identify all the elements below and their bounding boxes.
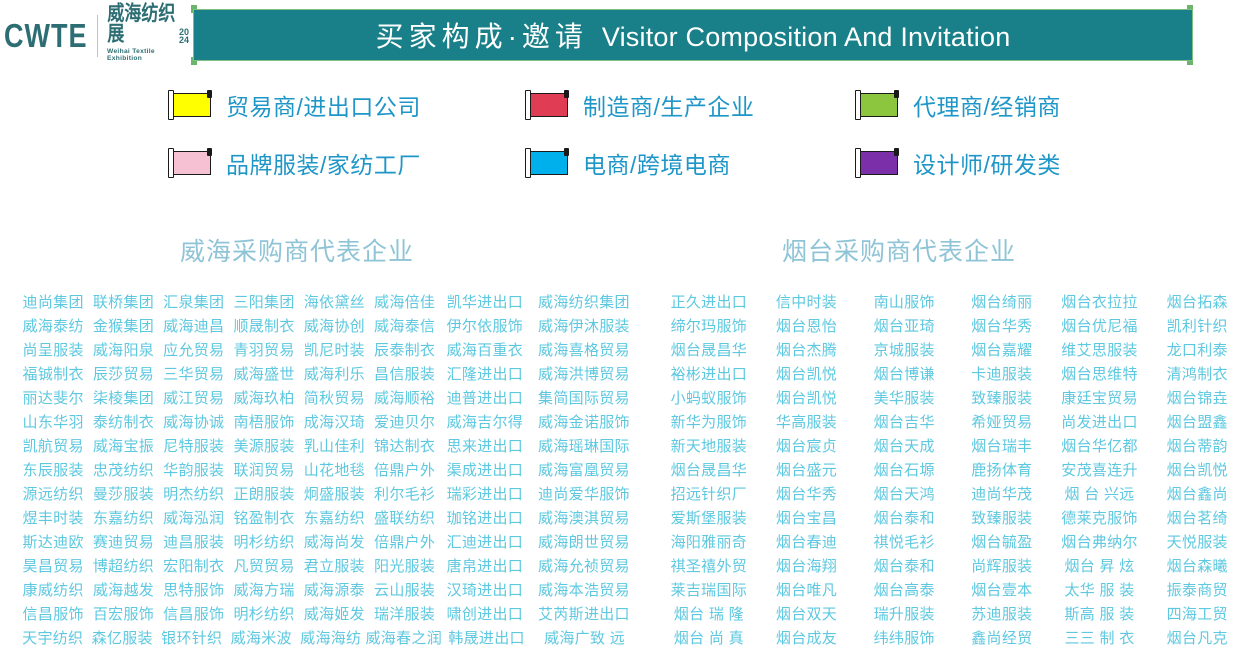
slide-page: CWTE 威海纺织展 20 24 Weihai Textile Exhibiti… [0,0,1247,660]
legend: 贸易商/进出口公司 制造商/生产企业 代理商/经销商 品牌服装/家纺工厂 电商/ [0,88,1247,198]
table-cell-company: 南山服饰 [855,291,953,312]
page-header: CWTE 威海纺织展 20 24 Weihai Textile Exhibiti… [0,0,1247,72]
table-cell-company: 烟台天鸿 [855,483,953,504]
table-cell-company: 烟台华秀 [953,315,1051,336]
table-cell-company: 烟台泰和 [855,555,953,576]
table-cell-company: 威海洪博贸易 [530,363,638,384]
table-cell-company: 凯尼时装 [299,339,369,360]
table-cell-company: 华高服装 [758,411,856,432]
table-cell-company: 威海协诚 [159,411,229,432]
table-row: 福铖制衣辰莎贸易三华贸易威海盛世威海利乐昌信服装汇隆进出口威海洪博贸易 [18,361,638,385]
table-cell-company: 汉琦进出口 [440,579,530,600]
table-cell-company: 致臻服装 [953,507,1051,528]
table-cell-company: 烟台绮丽 [953,291,1051,312]
logo-chinese-block: 威海纺织展 20 24 Weihai Textile Exhibition [107,10,189,62]
table-row: 新天地服装烟台宸贞烟台天成烟台瑞丰烟台华亿都烟台蒂韵 [660,433,1246,457]
legend-item-4: 电商/跨境电商 [525,146,731,180]
legend-item-label: 电商/跨境电商 [583,146,731,180]
table-cell-company: 凯利针织 [1148,315,1246,336]
table-cell-company: 联桥集团 [88,291,158,312]
table-cell-company: 威海伊沐服装 [530,315,638,336]
table-cell-company: 祺圣禧外贸 [660,555,758,576]
table-cell-company: 福铖制衣 [18,363,88,384]
section-heading-weihai: 威海采购商代表企业 [180,232,414,268]
table-cell-company: 三华贸易 [159,363,229,384]
table-row: 信昌服饰百宏服饰信昌服饰明杉纺织威海姬发瑞洋服装啸创进出口艾芮斯进出口 [18,601,638,625]
table-cell-company: 君立服装 [299,555,369,576]
table-row: 海阳雅丽奇烟台春迪祺悦毛衫烟台毓盈烟台弗纳尔天悦服装 [660,529,1246,553]
logo-english-subtitle: Weihai Textile Exhibition [107,48,190,62]
table-cell-company: 成海汉琦 [299,411,369,432]
table-cell-company: 锦达制衣 [369,435,439,456]
table-cell-company: 汇泉集团 [159,291,229,312]
table-cell-company: 烟台 尚 真 [660,627,758,648]
legend-item-label: 设计师/研发类 [913,146,1061,180]
table-cell-company: 铭盈制衣 [229,507,299,528]
logo-year-bottom: 24 [179,36,189,44]
table-cell-company: 威海米波 [227,627,297,648]
flag-icon [168,90,212,120]
table-cell-company: 烟台森曦 [1148,555,1246,576]
table-cell-company: 烟台华秀 [758,483,856,504]
legend-item-5: 设计师/研发类 [855,146,1061,180]
table-cell-company: 卡迪服装 [953,363,1051,384]
page-title-chinese: 买家构成·邀请 [376,15,588,55]
table-cell-company: 威海玖柏 [229,387,299,408]
table-cell-company: 威海泓润 [159,507,229,528]
table-cell-company: 明杉纺织 [229,603,299,624]
table-cell-company: 清鸿制衣 [1148,363,1246,384]
table-cell-company: 威海倍佳 [369,291,439,312]
table-cell-company: 迪尚集团 [18,291,88,312]
table-cell-company: 威海迪昌 [159,315,229,336]
table-row: 烟台 尚 真烟台成友纬纬服饰鑫尚经贸三三 制 衣烟台凡克 [660,625,1246,649]
table-cell-company: 云山服装 [369,579,439,600]
table-cell-company: 简秋贸易 [299,387,369,408]
table-cell-company: 威海富凰贸易 [530,459,638,480]
table-row: 裕彬进出口烟台凯悦烟台博谦卡迪服装烟台思维特清鸿制衣 [660,361,1246,385]
table-cell-company: 莱吉瑞国际 [660,579,758,600]
table-row: 烟台 瑞 隆烟台双天瑞升服装苏迪服装斯高 服 装四海工贸 [660,601,1246,625]
table-cell-company: 金猴集团 [88,315,158,336]
table-cell-company: 威海朗世贸易 [530,531,638,552]
table-cell-company: 柒棱集团 [88,387,158,408]
table-cell-company: 烟台锦垚 [1148,387,1246,408]
table-cell-company: 鑫尚经贸 [953,627,1051,648]
flag-icon [855,90,899,120]
table-row: 凯航贸易威海宝振尼特服装美源服装乳山佳利锦达制衣思来进出口威海瑶琳国际 [18,433,638,457]
table-row: 威海泰纺金猴集团威海迪昌顺晟制衣威海协创威海泰信伊尔依服饰威海伊沐服装 [18,313,638,337]
table-cell-company: 烟台嘉耀 [953,339,1051,360]
table-cell-company: 艾芮斯进出口 [530,603,638,624]
table-row: 斯达迪欧赛迪贸易迪昌服装明杉纺织威海尚发倍鼎户外汇迪进出口威海朗世贸易 [18,529,638,553]
table-cell-company: 尚辉服装 [953,555,1051,576]
table-cell-company: 威海百重衣 [440,339,530,360]
table-cell-company: 凯华进出口 [440,291,530,312]
table-cell-company: 烟台毓盈 [953,531,1051,552]
table-cell-company: 烟台华亿都 [1051,435,1149,456]
table-cell-company: 辰泰制衣 [369,339,439,360]
table-cell-company: 煜丰时装 [18,507,88,528]
table-cell-company: 烟台石塬 [855,459,953,480]
table-cell-company: 京城服装 [855,339,953,360]
table-cell-company: 威海宝振 [88,435,158,456]
legend-item-3: 品牌服装/家纺工厂 [168,146,421,180]
table-cell-company: 迪昌服装 [159,531,229,552]
table-cell-company: 维艾思服装 [1051,339,1149,360]
table-cell-company: 烟 台 兴远 [1051,483,1149,504]
table-cell-company: 明杉纺织 [229,531,299,552]
table-cell-company: 威海春之润 [366,627,443,648]
table-row: 新华为服饰华高服装烟台吉华希娅贸易尚发进出口烟台盟鑫 [660,409,1246,433]
legend-item-1: 制造商/生产企业 [525,88,754,122]
table-cell-company: 盛联纺织 [369,507,439,528]
table-cell-company: 威海协创 [299,315,369,336]
logo-abbrev: CWTE [4,19,87,53]
table-row: 尚呈服装威海阳泉应允贸易青羽贸易凯尼时装辰泰制衣威海百重衣威海喜格贸易 [18,337,638,361]
table-cell-company: 泰纺制衣 [88,411,158,432]
table-cell-company: 新华为服饰 [660,411,758,432]
table-cell-company: 瑞升服装 [855,603,953,624]
table-cell-company: 昊昌贸易 [18,555,88,576]
table-cell-company: 威海尚发 [299,531,369,552]
table-cell-company: 威海本浩贸易 [530,579,638,600]
table-cell-company: 烟台茗绮 [1148,507,1246,528]
table-cell-company: 汇迪进出口 [440,531,530,552]
flag-icon [525,90,569,120]
table-cell-company: 三三 制 衣 [1051,627,1149,648]
table-cell-company: 珈铭进出口 [440,507,530,528]
table-cell-company: 海依黛丝 [299,291,369,312]
table-cell-company: 威海吉尔得 [440,411,530,432]
table-cell-company: 利尔毛衫 [369,483,439,504]
table-cell-company: 烟台高泰 [855,579,953,600]
table-cell-company: 威海盛世 [229,363,299,384]
table-cell-company: 汇隆进出口 [440,363,530,384]
page-title-bar: 买家构成·邀请 Visitor Composition And Invitati… [193,9,1193,61]
table-cell-company: 烟台海翔 [758,555,856,576]
table-row: 迪尚集团联桥集团汇泉集团三阳集团海依黛丝威海倍佳凯华进出口威海纺织集团 [18,289,638,313]
table-cell-company: 银环针织 [157,627,227,648]
table-row: 缔尔玛服饰烟台恩怡烟台亚琦烟台华秀烟台优尼福凯利针织 [660,313,1246,337]
table-cell-company: 天宇纺织 [18,627,88,648]
table-cell-company: 烟台亚琦 [855,315,953,336]
table-cell-company: 烟台凯悦 [758,363,856,384]
flag-icon [168,148,212,178]
table-cell-company: 威海方瑞 [229,579,299,600]
table-cell-company: 鹿扬体育 [953,459,1051,480]
table-cell-company: 信中时装 [758,291,856,312]
legend-item-2: 代理商/经销商 [855,88,1061,122]
table-cell-company: 百宏服饰 [88,603,158,624]
table-row: 丽达斐尔柒棱集团威江贸易威海玖柏简秋贸易威海顺裕迪普进出口集简国际贸易 [18,385,638,409]
table-cell-company: 威海金诺服饰 [530,411,638,432]
table-cell-company: 烟台双天 [758,603,856,624]
table-cell-company: 斯高 服 装 [1051,603,1149,624]
table-cell-company: 天悦服装 [1148,531,1246,552]
table-cell-company: 烟台吉华 [855,411,953,432]
table-cell-company: 威海澳淇贸易 [530,507,638,528]
logo-chinese-name: 威海纺织展 [107,3,177,44]
table-cell-company: 烟台蒂韵 [1148,435,1246,456]
table-cell-company: 烟台凡克 [1148,627,1246,648]
table-row: 康威纺织威海越发思特服饰威海方瑞威海源泰云山服装汉琦进出口威海本浩贸易 [18,577,638,601]
table-cell-company: 迪尚爱华服饰 [530,483,638,504]
table-cell-company: 纬纬服饰 [855,627,953,648]
table-cell-company: 烟台晟昌华 [660,339,758,360]
table-cell-company: 康廷宝贸易 [1051,387,1149,408]
table-cell-company: 安茂喜连升 [1051,459,1149,480]
table-cell-company: 东嘉纺织 [299,507,369,528]
table-cell-company: 山花地毯 [299,459,369,480]
table-row: 天宇纺织森亿服装银环针织威海米波威海海纺威海春之润韩晟进出口威海广致 远 [18,625,638,649]
flag-icon [855,148,899,178]
cwte-logo: CWTE 威海纺织展 20 24 Weihai Textile Exhibiti… [4,8,189,64]
table-weihai-buyers: 迪尚集团联桥集团汇泉集团三阳集团海依黛丝威海倍佳凯华进出口威海纺织集团威海泰纺金… [18,289,638,649]
table-cell-company: 烟台凯悦 [1148,459,1246,480]
table-cell-company: 威江贸易 [159,387,229,408]
table-cell-company: 东嘉纺织 [88,507,158,528]
table-cell-company: 苏迪服装 [953,603,1051,624]
table-cell-company: 爱斯堡服装 [660,507,758,528]
table-cell-company: 康威纺织 [18,579,88,600]
legend-item-label: 品牌服装/家纺工厂 [226,146,421,180]
table-row: 山东华羽泰纺制衣威海协诚南梧服饰成海汉琦爱迪贝尔威海吉尔得威海金诺服饰 [18,409,638,433]
table-cell-company: 思特服饰 [159,579,229,600]
table-row: 昊昌贸易博超纺织宏阳制衣凡贸贸易君立服装阳光服装唐帛进出口威海允祯贸易 [18,553,638,577]
table-cell-company: 信昌服饰 [18,603,88,624]
table-cell-company: 新天地服装 [660,435,758,456]
table-cell-company: 美源服装 [229,435,299,456]
logo-divider [97,15,98,57]
table-cell-company: 烟台春迪 [758,531,856,552]
table-cell-company: 烟台衣拉拉 [1051,291,1149,312]
table-cell-company: 明杰纺织 [159,483,229,504]
table-cell-company: 招远针织厂 [660,483,758,504]
table-cell-company: 威海海纺 [296,627,366,648]
table-cell-company: 迪普进出口 [440,387,530,408]
table-cell-company: 烟台 昇 炫 [1051,555,1149,576]
table-cell-company: 顺晟制衣 [229,315,299,336]
table-cell-company: 丽达斐尔 [18,387,88,408]
legend-item-0: 贸易商/进出口公司 [168,88,421,122]
table-cell-company: 正朗服装 [229,483,299,504]
table-cell-company: 威海纺织集团 [530,291,638,312]
table-cell-company: 烟台弗纳尔 [1051,531,1149,552]
table-cell-company: 爱迪贝尔 [369,411,439,432]
table-cell-company: 烟台成友 [758,627,856,648]
table-cell-company: 烟台盟鑫 [1148,411,1246,432]
table-row: 爱斯堡服装烟台宝昌烟台泰和致臻服装德莱克服饰烟台茗绮 [660,505,1246,529]
table-cell-company: 烟台宸贞 [758,435,856,456]
table-row: 莱吉瑞国际烟台唯凡烟台高泰烟台壹本太华 服 装振泰商贸 [660,577,1246,601]
table-cell-company: 烟台宝昌 [758,507,856,528]
table-cell-company: 瑞彩进出口 [440,483,530,504]
table-cell-company: 曼莎服装 [88,483,158,504]
table-cell-company: 正久进出口 [660,291,758,312]
table-cell-company: 应允贸易 [159,339,229,360]
table-cell-company: 威海阳泉 [88,339,158,360]
table-cell-company: 威海利乐 [299,363,369,384]
table-yantai-buyers: 正久进出口信中时装南山服饰烟台绮丽烟台衣拉拉烟台拓森缔尔玛服饰烟台恩怡烟台亚琦烟… [660,289,1246,649]
table-cell-company: 烟台拓森 [1148,291,1246,312]
table-cell-company: 烟台 瑞 隆 [660,603,758,624]
legend-item-label: 贸易商/进出口公司 [226,88,421,122]
table-cell-company: 山东华羽 [18,411,88,432]
table-cell-company: 森亿服装 [88,627,158,648]
table-cell-company: 烟台杰腾 [758,339,856,360]
table-cell-company: 昌信服装 [369,363,439,384]
table-cell-company: 尚呈服装 [18,339,88,360]
table-cell-company: 烟台晟昌华 [660,459,758,480]
table-cell-company: 祺悦毛衫 [855,531,953,552]
table-row: 烟台晟昌华烟台盛元烟台石塬鹿扬体育安茂喜连升烟台凯悦 [660,457,1246,481]
table-row: 煜丰时装东嘉纺织威海泓润铭盈制衣东嘉纺织盛联纺织珈铭进出口威海澳淇贸易 [18,505,638,529]
table-cell-company: 南梧服饰 [229,411,299,432]
table-cell-company: 威海喜格贸易 [530,339,638,360]
table-cell-company: 乳山佳利 [299,435,369,456]
table-cell-company: 烟台凯悦 [758,387,856,408]
table-cell-company: 威海源泰 [299,579,369,600]
table-cell-company: 缔尔玛服饰 [660,315,758,336]
table-cell-company: 太华 服 装 [1051,579,1149,600]
table-cell-company: 信昌服饰 [159,603,229,624]
logo-year: 20 24 [179,28,189,44]
table-cell-company: 威海顺裕 [369,387,439,408]
legend-item-label: 代理商/经销商 [913,88,1061,122]
table-cell-company: 青羽贸易 [229,339,299,360]
table-cell-company: 小蚂蚁服饰 [660,387,758,408]
table-cell-company: 渠成进出口 [440,459,530,480]
table-cell-company: 思来进出口 [440,435,530,456]
table-cell-company: 烟台盛元 [758,459,856,480]
table-cell-company: 烟台恩怡 [758,315,856,336]
table-cell-company: 振泰商贸 [1148,579,1246,600]
table-cell-company: 烟台博谦 [855,363,953,384]
table-row: 源远纺织曼莎服装明杰纺织正朗服装炯盛服装利尔毛衫瑞彩进出口迪尚爱华服饰 [18,481,638,505]
table-cell-company: 烟台唯凡 [758,579,856,600]
flag-icon [525,148,569,178]
table-cell-company: 倍鼎户外 [369,459,439,480]
table-cell-company: 四海工贸 [1148,603,1246,624]
table-cell-company: 龙口利泰 [1148,339,1246,360]
table-cell-company: 三阳集团 [229,291,299,312]
table-cell-company: 唐帛进出口 [440,555,530,576]
table-cell-company: 辰莎贸易 [88,363,158,384]
table-cell-company: 伊尔依服饰 [440,315,530,336]
table-cell-company: 尚发进出口 [1051,411,1149,432]
table-row: 招远针织厂烟台华秀烟台天鸿迪尚华茂烟 台 兴远烟台鑫尚 [660,481,1246,505]
table-cell-company: 烟台泰和 [855,507,953,528]
table-cell-company: 尼特服装 [159,435,229,456]
table-cell-company: 阳光服装 [369,555,439,576]
table-cell-company: 集简国际贸易 [530,387,638,408]
table-cell-company: 忠茂纺织 [88,459,158,480]
table-cell-company: 威海泰纺 [18,315,88,336]
table-row: 东辰服装忠茂纺织华韵服装联润贸易山花地毯倍鼎户外渠成进出口威海富凰贸易 [18,457,638,481]
table-cell-company: 烟台天成 [855,435,953,456]
table-cell-company: 斯达迪欧 [18,531,88,552]
table-cell-company: 威海泰信 [369,315,439,336]
table-cell-company: 联润贸易 [229,459,299,480]
table-cell-company: 烟台壹本 [953,579,1051,600]
table-cell-company: 烟台思维特 [1051,363,1149,384]
table-cell-company: 瑞洋服装 [369,603,439,624]
table-cell-company: 华韵服装 [159,459,229,480]
table-cell-company: 源远纺织 [18,483,88,504]
table-cell-company: 致臻服装 [953,387,1051,408]
table-cell-company: 啸创进出口 [440,603,530,624]
table-cell-company: 烟台鑫尚 [1148,483,1246,504]
legend-item-label: 制造商/生产企业 [583,88,754,122]
table-cell-company: 威海瑶琳国际 [530,435,638,456]
table-row: 正久进出口信中时装南山服饰烟台绮丽烟台衣拉拉烟台拓森 [660,289,1246,313]
table-cell-company: 宏阳制衣 [159,555,229,576]
table-cell-company: 凡贸贸易 [229,555,299,576]
table-row: 小蚂蚁服饰烟台凯悦美华服装致臻服装康廷宝贸易烟台锦垚 [660,385,1246,409]
table-cell-company: 倍鼎户外 [369,531,439,552]
table-cell-company: 威海广致 远 [531,627,638,648]
table-cell-company: 烟台瑞丰 [953,435,1051,456]
page-title-english: Visitor Composition And Invitation [602,22,1011,53]
table-row: 烟台晟昌华烟台杰腾京城服装烟台嘉耀维艾思服装龙口利泰 [660,337,1246,361]
table-cell-company: 海阳雅丽奇 [660,531,758,552]
table-cell-company: 炯盛服装 [299,483,369,504]
table-cell-company: 德莱克服饰 [1051,507,1149,528]
table-cell-company: 威海允祯贸易 [530,555,638,576]
table-cell-company: 韩晟进出口 [442,627,531,648]
table-cell-company: 威海姬发 [299,603,369,624]
table-cell-company: 希娅贸易 [953,411,1051,432]
table-cell-company: 东辰服装 [18,459,88,480]
table-cell-company: 美华服装 [855,387,953,408]
table-cell-company: 博超纺织 [88,555,158,576]
table-cell-company: 烟台优尼福 [1051,315,1149,336]
table-cell-company: 赛迪贸易 [88,531,158,552]
table-row: 祺圣禧外贸烟台海翔烟台泰和尚辉服装烟台 昇 炫烟台森曦 [660,553,1246,577]
table-cell-company: 威海越发 [88,579,158,600]
table-cell-company: 凯航贸易 [18,435,88,456]
section-heading-yantai: 烟台采购商代表企业 [782,232,1016,268]
table-cell-company: 裕彬进出口 [660,363,758,384]
table-cell-company: 迪尚华茂 [953,483,1051,504]
